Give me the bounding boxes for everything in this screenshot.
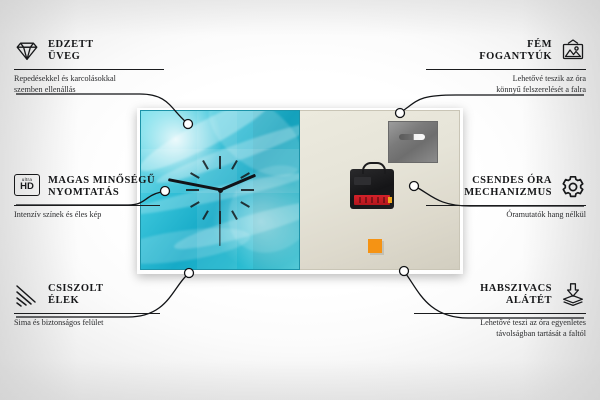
foam-layers-icon (560, 282, 586, 308)
callout-polished-edges: CSISZOLT ÉLEK Sima és biztonságos felüle… (14, 282, 160, 329)
callout-title: CSISZOLT ÉLEK (48, 283, 104, 308)
callout-rule (14, 205, 160, 206)
callout-desc: Intenzív színek és éles kép (14, 210, 160, 221)
gear-icon (560, 174, 586, 200)
callout-rule (14, 313, 160, 314)
polished-edges-icon (14, 282, 40, 308)
callout-desc: Lehetővé teszik az óra könnyű felszerelé… (426, 74, 586, 95)
clock-pivot (218, 188, 223, 193)
battery-stripe (377, 197, 379, 203)
battery-stripe (359, 197, 361, 203)
callout-title: HABSZIVACS ALÁTÉT (480, 283, 552, 308)
clock-mechanism (350, 169, 394, 209)
metal-hanger-plate (388, 121, 438, 163)
callout-tempered-glass: EDZETT ÜVEG Repedésekkel és karcolásokka… (14, 38, 164, 95)
picture-frame-icon (560, 38, 586, 64)
callout-desc: Lehetővé teszi az óra egyenletes távolsá… (414, 318, 586, 339)
callout-foam-spacer: HABSZIVACS ALÁTÉT Lehetővé teszi az óra … (414, 282, 586, 339)
hanger-slot (399, 134, 425, 140)
ultra-hd-large-text: HD (20, 182, 34, 192)
callout-rule (426, 205, 586, 206)
callout-high-quality-print: ultra HD MAGAS MINŐSÉGŰ NYOMTATÁS Intenz… (14, 174, 160, 221)
callout-desc: Sima és biztonságos felület (14, 318, 160, 329)
callout-rule (14, 69, 164, 70)
battery-stripe (371, 197, 373, 203)
callout-desc: Óramutatók hang nélkül (426, 210, 586, 221)
battery-stripe (365, 197, 367, 203)
callout-metal-handles: FÉM FOGANTYÚK Lehetővé teszik az óra kön… (426, 38, 586, 95)
foam-spacer-pad (368, 239, 382, 253)
callout-desc: Repedésekkel és karcolásokkal szemben el… (14, 74, 164, 95)
callout-title: CSENDES ÓRA MECHANIZMUS (464, 175, 552, 200)
mechanism-slot (354, 177, 371, 185)
callout-title: EDZETT ÜVEG (48, 39, 94, 64)
callout-title: MAGAS MINŐSÉGŰ NYOMTATÁS (48, 175, 155, 200)
callout-rule (414, 313, 586, 314)
clock-front-view (140, 110, 300, 270)
callout-rule (426, 69, 586, 70)
mechanism-loop (362, 162, 386, 174)
battery-stripe (383, 197, 385, 203)
infographic-canvas: EDZETT ÜVEG Repedésekkel és karcolásokka… (0, 0, 600, 400)
diamond-icon (14, 38, 40, 64)
callout-title: FÉM FOGANTYÚK (479, 39, 552, 64)
callout-silent-mechanism: CSENDES ÓRA MECHANIZMUS Óramutatók hang … (426, 174, 586, 221)
ultra-hd-icon: ultra HD (14, 174, 40, 200)
product-photo (140, 110, 460, 270)
battery (354, 195, 390, 205)
